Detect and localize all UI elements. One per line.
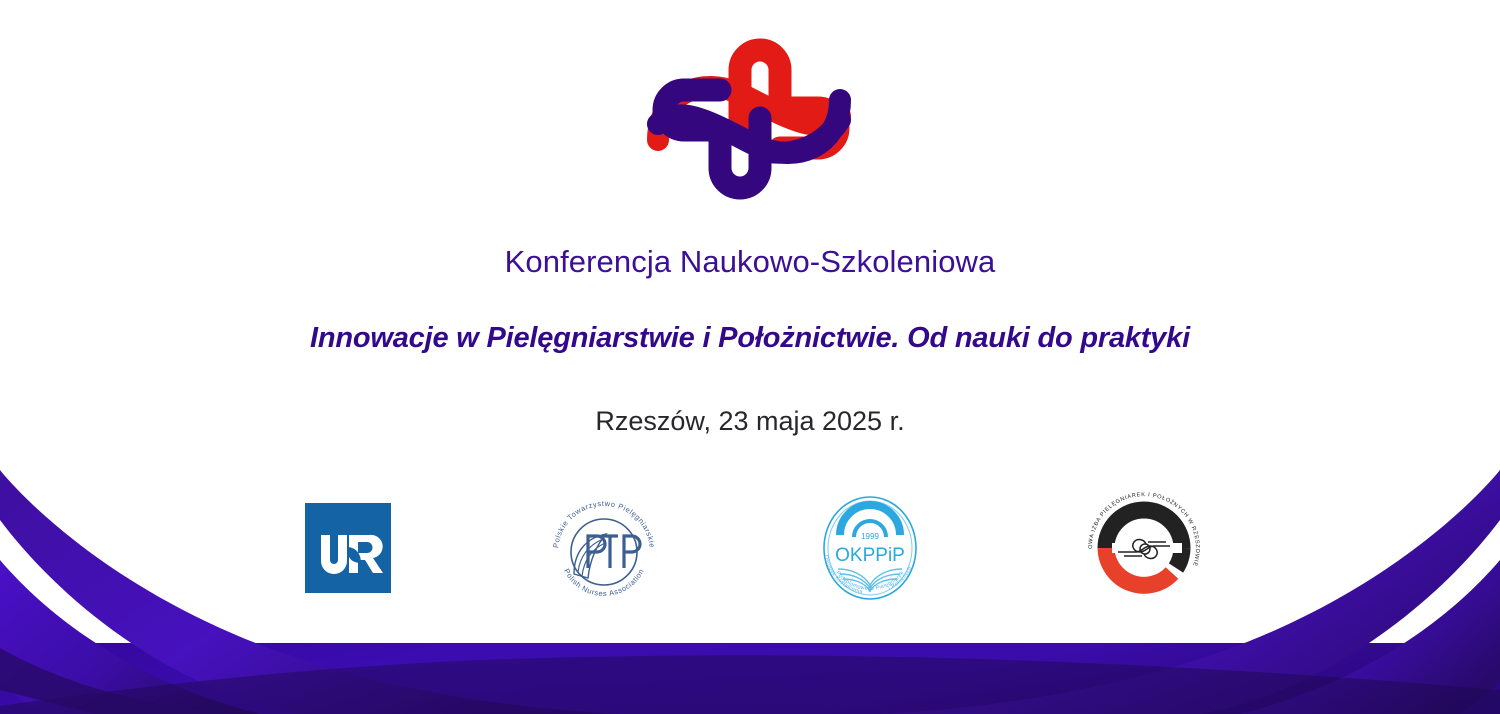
conference-banner: Konferencja Naukowo-Szkoleniowa Innowacj… [0, 0, 1500, 714]
emblem-container [0, 28, 1500, 208]
okppip-year: 1999 [861, 532, 879, 541]
logo-okppip: 1999 OKPPiP Ośrodek Kształcenia i Położn… [800, 487, 940, 609]
okppip-monogram: OKPPiP [835, 545, 905, 566]
wave-left-notch [0, 648, 230, 714]
oipip-logo-icon: OKRĘGOWA IZBA PIELĘGNIAREK I POŁOŻNYCH W… [1084, 490, 1204, 606]
conference-kicker: Konferencja Naukowo-Szkoleniowa [0, 243, 1500, 282]
logo-oipip-rzeszow: OKRĘGOWA IZBA PIELĘGNIAREK I POŁOŻNYCH W… [1074, 487, 1214, 609]
conference-title: Innowacje w Pielęgniarstwie i Położnictw… [0, 320, 1500, 358]
wave-shadow-arc [0, 655, 1500, 714]
ur-logo-icon [305, 503, 391, 593]
okppip-logo-icon: 1999 OKPPiP Ośrodek Kształcenia i Położn… [814, 491, 926, 605]
logo-polskie-towarzystwo-pielegniarskie: Polskie Towarzystwo Pielęgniarskie Polis… [534, 487, 674, 609]
logo-uniwersytet-rzeszowski [278, 487, 418, 609]
conference-place-date: Rzeszów, 23 maja 2025 r. [0, 404, 1500, 439]
ptp-logo-icon: Polskie Towarzystwo Pielęgniarskie Polis… [544, 490, 664, 606]
nursing-midwifery-cross-infinity-emblem [640, 28, 860, 208]
sponsor-logo-strip: Polskie Towarzystwo Pielęgniarskie Polis… [0, 487, 1500, 609]
heading-block: Konferencja Naukowo-Szkoleniowa Innowacj… [0, 243, 1500, 440]
wave-base-band [0, 660, 1500, 714]
wave-base-curve [0, 643, 1500, 714]
